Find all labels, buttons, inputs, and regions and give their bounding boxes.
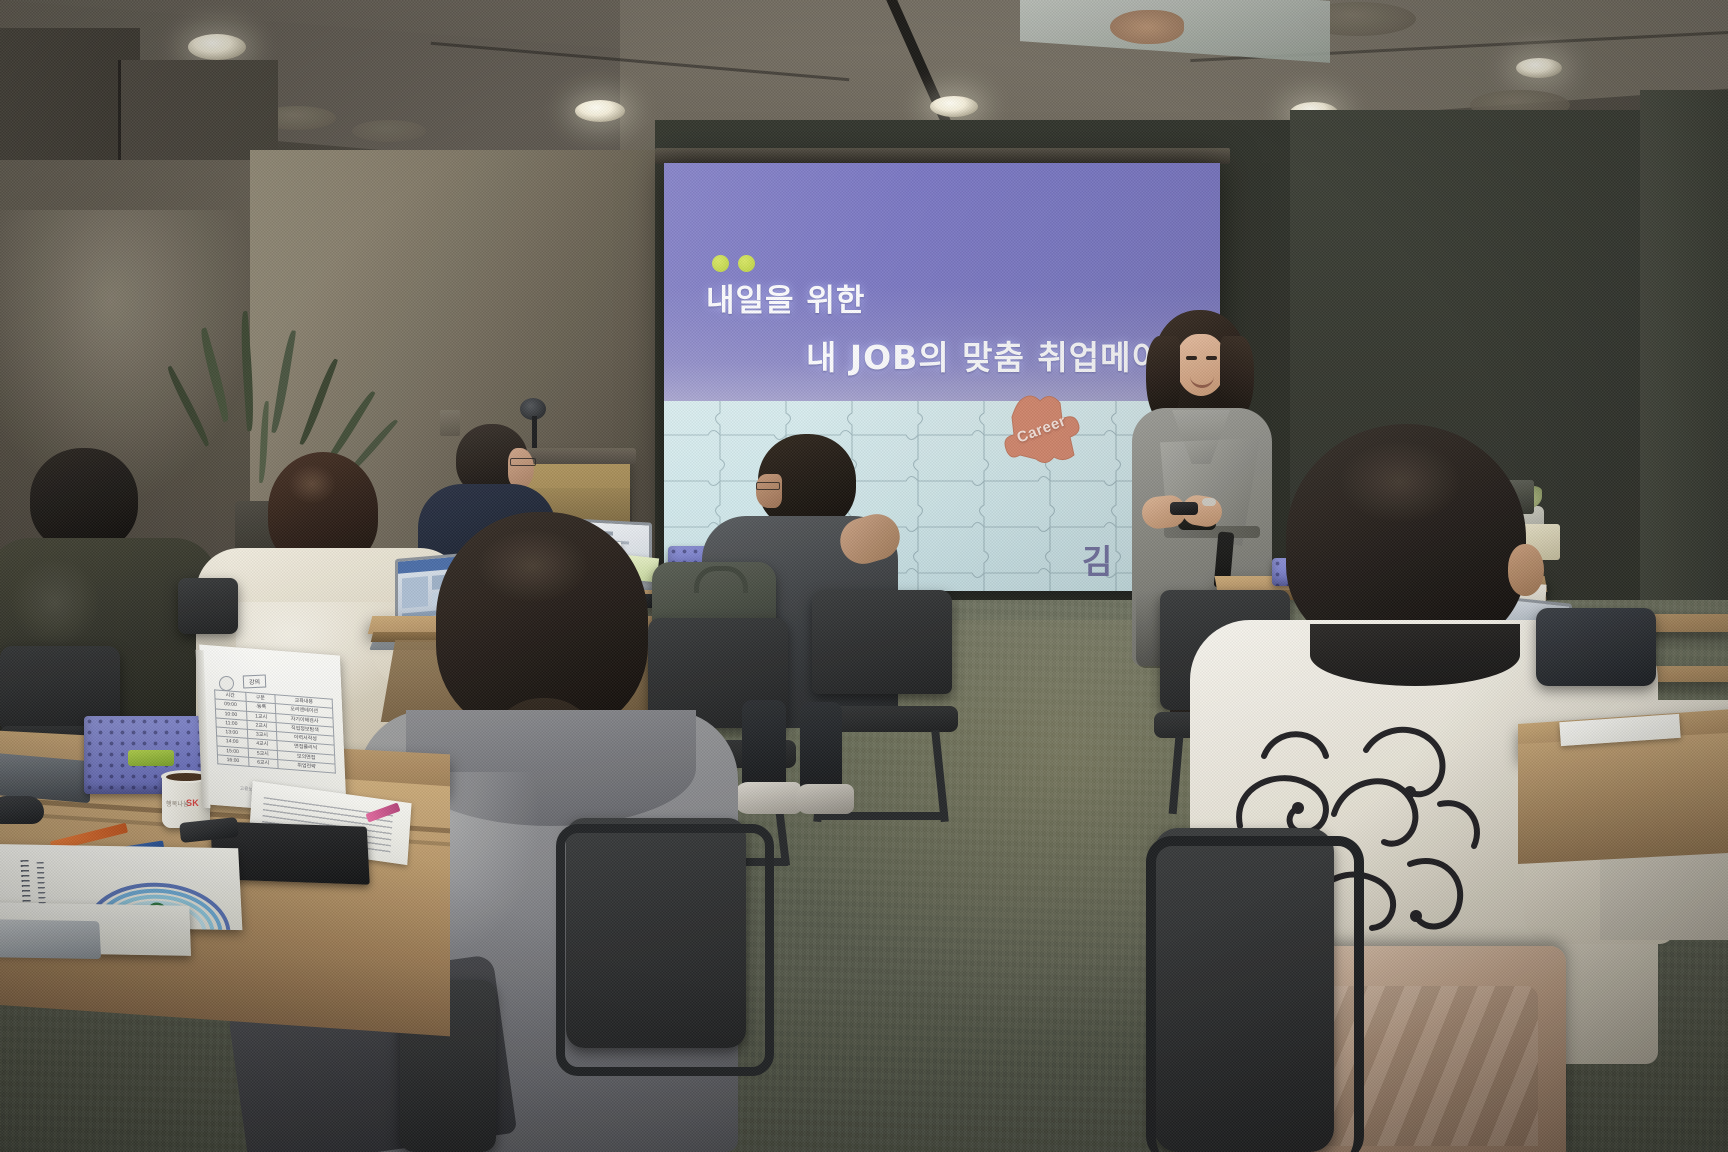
face bbox=[508, 448, 534, 488]
table-cell: 6교시 bbox=[248, 757, 278, 769]
photo-scene: 내일을 위한 내 JOB의 맞춤 취업메이킹 Career 김 현 bbox=[0, 0, 1728, 1152]
downlight-icon bbox=[575, 100, 625, 122]
leg bbox=[800, 702, 842, 794]
hair-sheen bbox=[288, 464, 336, 504]
glasses-icon bbox=[756, 482, 780, 490]
bag-right bbox=[1536, 608, 1656, 686]
chair[interactable] bbox=[178, 578, 238, 634]
laptop-closed[interactable] bbox=[0, 919, 101, 959]
cup-sub-label: 행복나눔 bbox=[166, 799, 189, 808]
chair[interactable] bbox=[812, 590, 952, 694]
ear bbox=[1508, 544, 1544, 596]
face-profile bbox=[756, 474, 782, 508]
hair-highlight bbox=[1340, 442, 1460, 522]
table-cell: 16:00 bbox=[217, 755, 248, 767]
head bbox=[30, 448, 138, 552]
glasses-icon bbox=[510, 458, 536, 466]
downlight-icon bbox=[930, 96, 978, 117]
tent-schedule-body: 시간구분교육내용09:00·등록오리엔테이션10:001교시자기이해검사11:0… bbox=[215, 690, 336, 773]
eye-right bbox=[1206, 356, 1217, 360]
tent-schedule-table: 시간구분교육내용09:00·등록오리엔테이션10:001교시자기이해검사11:0… bbox=[214, 689, 336, 773]
chair-frame bbox=[556, 824, 774, 1076]
mouse[interactable] bbox=[0, 796, 44, 824]
ceiling-glass-reflection bbox=[1110, 10, 1184, 44]
ceiling-speaker-icon bbox=[352, 120, 426, 142]
desk-right-foreground-surface bbox=[1518, 732, 1728, 864]
projector-screen-housing bbox=[655, 148, 1230, 164]
chair-frame bbox=[1146, 836, 1364, 1152]
basket-label bbox=[128, 750, 174, 766]
jacket-shoulder-highlight bbox=[10, 558, 100, 648]
tent-badge: 강의 bbox=[243, 675, 267, 689]
shoe bbox=[796, 784, 854, 814]
eye-left bbox=[1186, 356, 1197, 360]
downlight-icon bbox=[188, 34, 246, 60]
downlight-icon bbox=[1516, 58, 1562, 78]
hair-sheen bbox=[478, 530, 588, 602]
